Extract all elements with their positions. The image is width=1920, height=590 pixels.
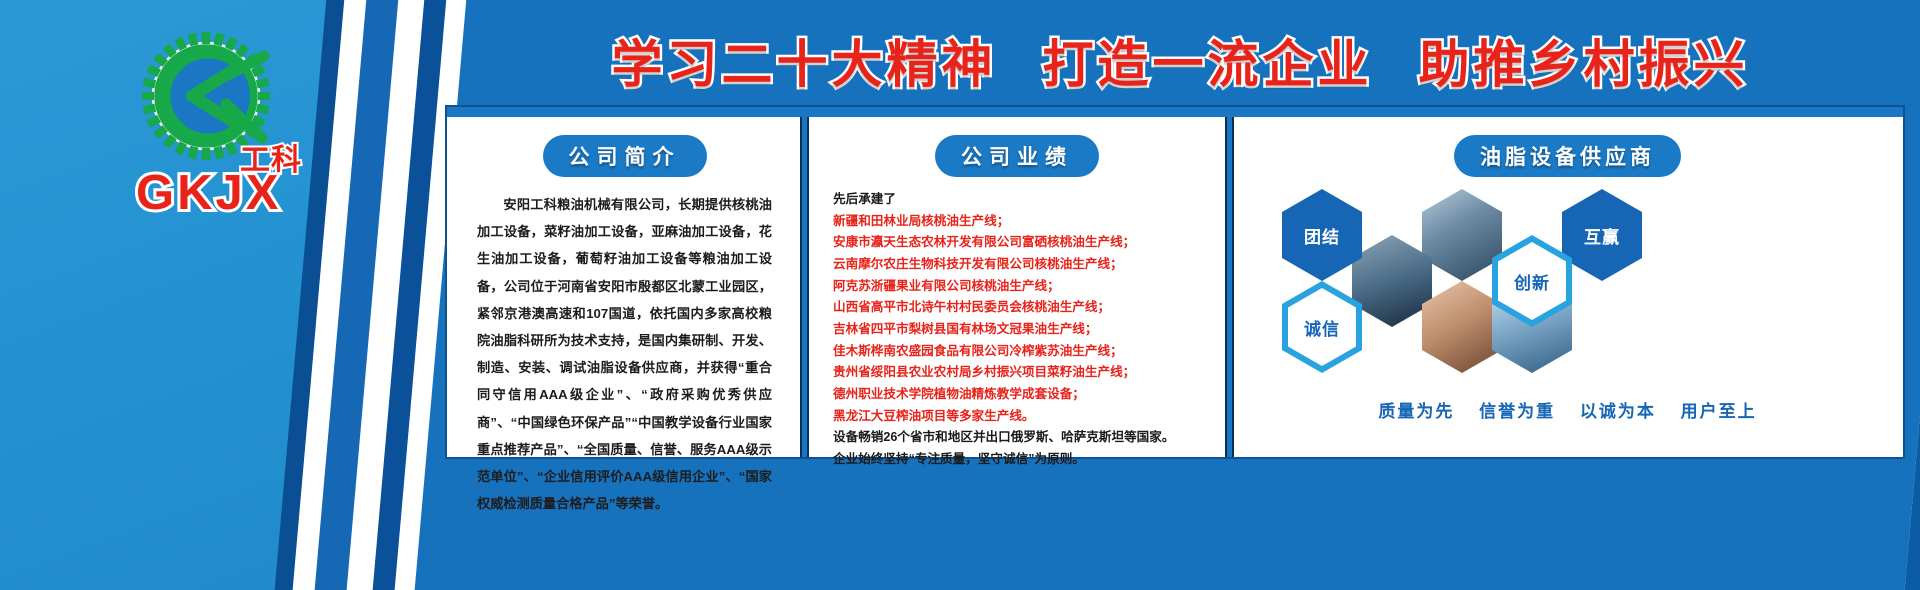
value-hex-mutual-win: 互赢 bbox=[1562, 189, 1642, 281]
slogan-part-4: 用户至上 bbox=[1681, 402, 1757, 421]
company-profile-text: 安阳工科粮油机械有限公司，长期提供核桃油加工设备，菜籽油加工设备，亚麻油加工设备… bbox=[447, 177, 802, 517]
project-item: 新疆和田林业局核桃油生产线； bbox=[833, 211, 1209, 233]
slogan-part-2: 信誉为重 bbox=[1479, 402, 1555, 421]
panel-title-supplier: 油脂设备供应商 bbox=[1454, 135, 1681, 177]
slogan-part-3: 以诚为本 bbox=[1580, 402, 1656, 421]
panel-company-profile: 公司简介 安阳工科粮油机械有限公司，长期提供核桃油加工设备，菜籽油加工设备，亚麻… bbox=[447, 117, 802, 457]
project-item: 黑龙江大豆榨油项目等多家生产线。 bbox=[833, 406, 1209, 428]
headline-part-1: 学习二十大精神 bbox=[611, 23, 996, 97]
project-item: 佳木斯桦南农盛园食品有限公司冷榨紫苏油生产线； bbox=[833, 341, 1209, 363]
project-item: 安康市瀛天生态农林开发有限公司富硒核桃油生产线； bbox=[833, 232, 1209, 254]
headline-part-3: 助推乡村振兴 bbox=[1419, 23, 1749, 97]
supplier-slogan: 质量为先 信誉为重 以诚为本 用户至上 bbox=[1232, 397, 1903, 422]
performance-lead: 先后承建了 bbox=[833, 189, 1209, 211]
project-item: 云南摩尔农庄生物科技开发有限公司核桃油生产线； bbox=[833, 254, 1209, 276]
poster-canvas: 工科 GKJX 学习二十大精神 打造一流企业 助推乡村振兴 公司简介 安阳工科粮… bbox=[0, 0, 1920, 590]
project-item: 德州职业技术学院植物油精炼教学成套设备； bbox=[833, 384, 1209, 406]
performance-footer-line: 企业始终坚持“专注质量，坚守诚信”为原则。 bbox=[833, 449, 1209, 471]
panel-title-company-profile: 公司简介 bbox=[543, 135, 707, 177]
project-item: 阿克苏浙疆果业有限公司核桃油生产线； bbox=[833, 276, 1209, 298]
project-item: 吉林省四平市梨树县国有林场文冠果油生产线； bbox=[833, 319, 1209, 341]
value-hex-integrity: 诚信 bbox=[1282, 281, 1362, 373]
value-hex-label: 互赢 bbox=[1584, 223, 1620, 248]
performance-footer-line: 设备畅销26个省市和地区并出口俄罗斯、哈萨克斯坦等国家。 bbox=[833, 427, 1209, 449]
poster-headline: 学习二十大精神 打造一流企业 助推乡村振兴 bbox=[460, 22, 1900, 98]
equipment-photo-hex bbox=[1352, 235, 1432, 327]
value-hex-unity: 团结 bbox=[1282, 189, 1362, 281]
headline-part-2: 打造一流企业 bbox=[1042, 23, 1372, 97]
content-plate: 公司简介 安阳工科粮油机械有限公司，长期提供核桃油加工设备，菜籽油加工设备，亚麻… bbox=[447, 107, 1903, 457]
panel-company-performance: 公司业绩 先后承建了 新疆和田林业局核桃油生产线； 安康市瀛天生态农林开发有限公… bbox=[807, 117, 1227, 457]
project-item: 山西省高平市北诗午村村民委员会核桃油生产线； bbox=[833, 297, 1209, 319]
panel-supplier: 油脂设备供应商 团结 互赢 创新 bbox=[1232, 117, 1903, 457]
handshake-photo-hex bbox=[1422, 281, 1502, 373]
panel-title-company-performance: 公司业绩 bbox=[935, 135, 1099, 177]
value-hex-label: 创新 bbox=[1514, 269, 1550, 294]
company-logo: 工科 GKJX bbox=[128, 30, 318, 230]
value-hex-label: 团结 bbox=[1304, 223, 1340, 248]
hex-cluster: 团结 互赢 创新 诚信 bbox=[1232, 183, 1903, 393]
value-hex-label: 诚信 bbox=[1304, 315, 1340, 340]
logo-en-text: GKJX bbox=[136, 165, 281, 221]
project-item: 贵州省绥阳县农业农村局乡村振兴项目菜籽油生产线； bbox=[833, 362, 1209, 384]
slogan-part-1: 质量为先 bbox=[1378, 402, 1454, 421]
factory-photo-hex bbox=[1422, 189, 1502, 281]
performance-list: 先后承建了 新疆和田林业局核桃油生产线； 安康市瀛天生态农林开发有限公司富硒核桃… bbox=[807, 177, 1227, 471]
